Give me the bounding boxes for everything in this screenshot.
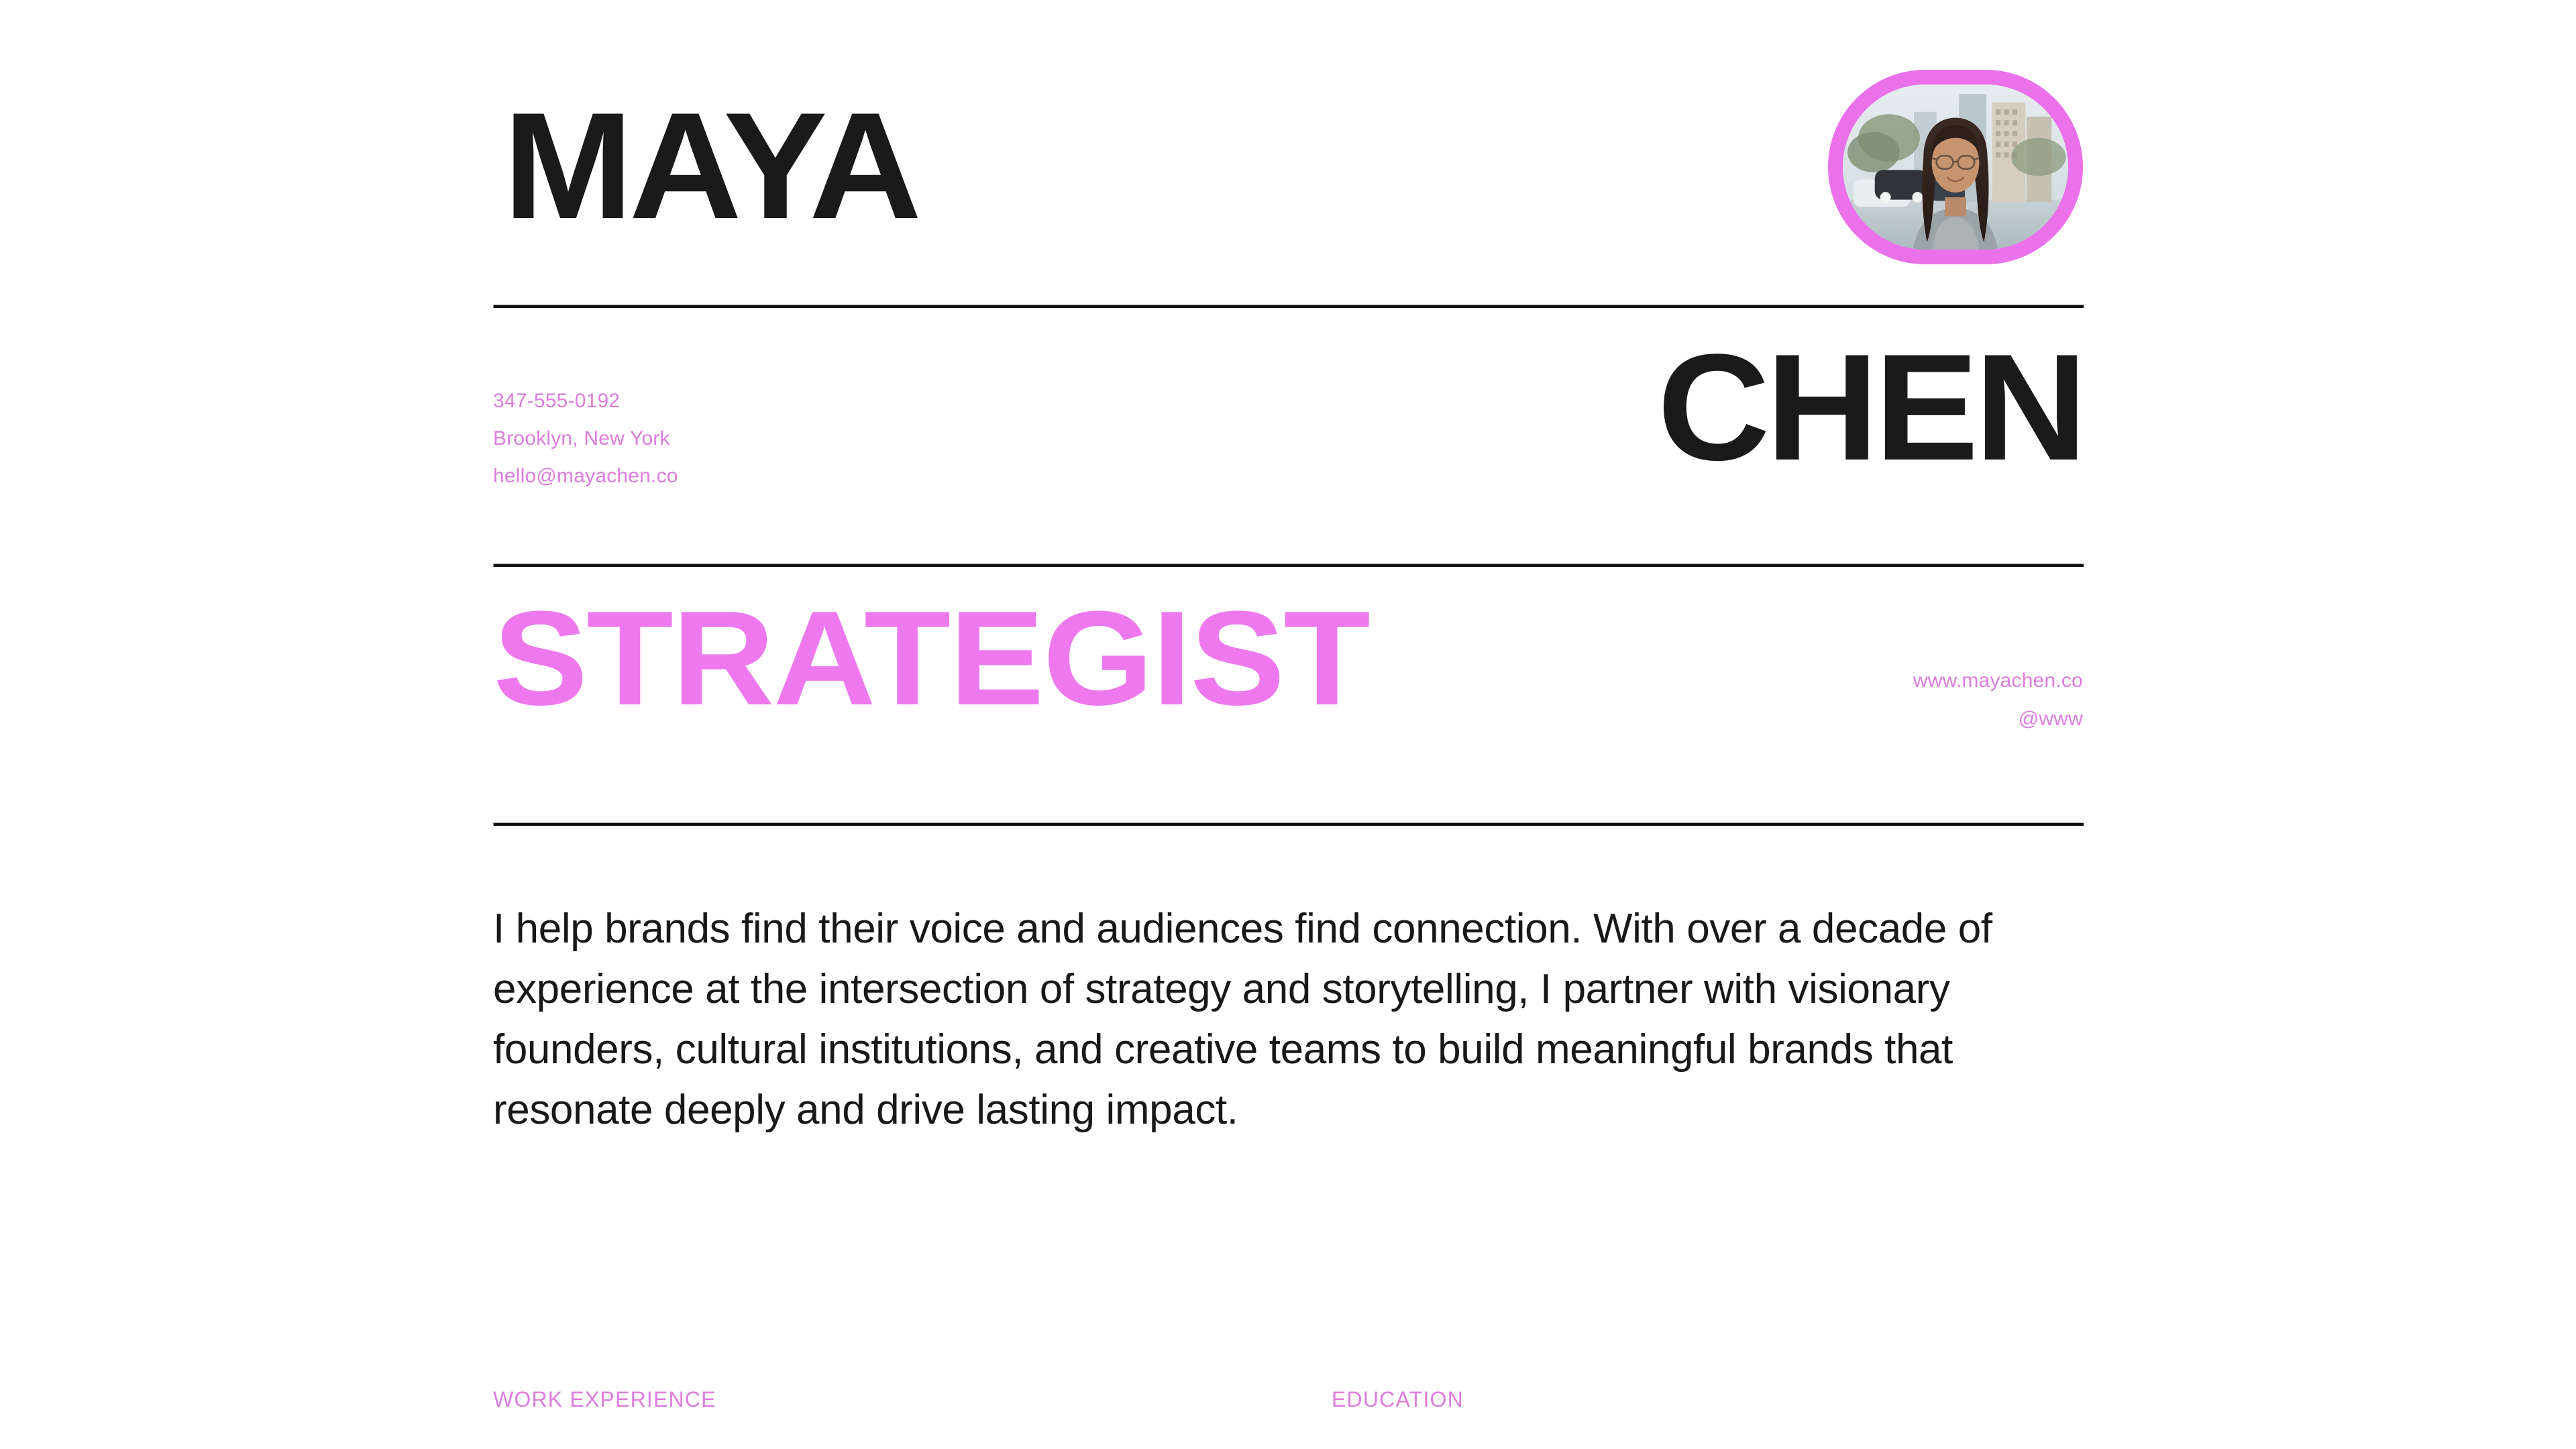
- role-and-links-row: STRATEGIST www.mayachen.co @www: [493, 574, 2083, 817]
- contact-location: Brooklyn, New York: [493, 420, 678, 458]
- resume-page: MAYA: [0, 0, 2576, 1449]
- avatar: [1828, 70, 2083, 264]
- divider-1: [493, 305, 2084, 309]
- section-heading-work-experience: WORK EXPERIENCE: [493, 1387, 716, 1412]
- portrait-photo-icon: [1843, 85, 2068, 250]
- avatar-image: [1843, 85, 2068, 250]
- page-title-first-name: MAYA: [503, 99, 918, 233]
- section-heading-education: EDUCATION: [1332, 1387, 1464, 1412]
- link-website[interactable]: www.mayachen.co: [1913, 661, 2083, 700]
- contact-list: 347-555-0192 Brooklyn, New York hello@ma…: [493, 382, 678, 495]
- link-social[interactable]: @www: [1913, 700, 2083, 738]
- divider-3: [493, 822, 2084, 826]
- page-title-last-name: CHEN: [1657, 341, 2083, 474]
- contact-phone[interactable]: 347-555-0192: [493, 382, 678, 420]
- links-list: www.mayachen.co @www: [1913, 661, 2083, 738]
- divider-2: [493, 563, 2084, 568]
- header-first-name-row: MAYA: [493, 80, 2083, 299]
- role-title: STRATEGIST: [493, 598, 1369, 719]
- contact-email[interactable]: hello@mayachen.co: [493, 458, 678, 495]
- contact-and-last-name-row: 347-555-0192 Brooklyn, New York hello@ma…: [493, 315, 2083, 557]
- summary-paragraph: I help brands find their voice and audie…: [493, 899, 2096, 1140]
